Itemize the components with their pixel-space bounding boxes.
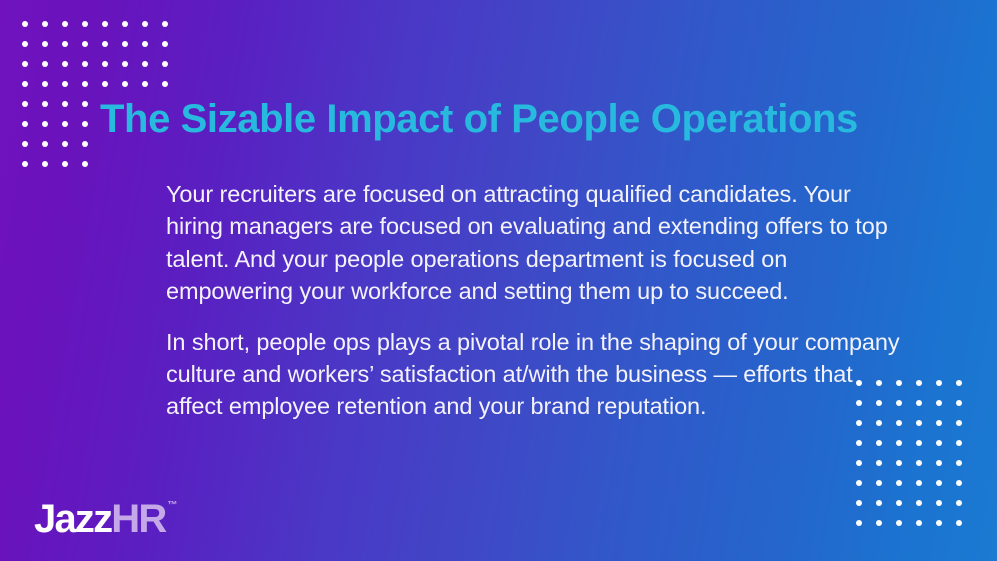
decorative-dot bbox=[876, 520, 882, 526]
jazzhr-logo: Jazz HR ™ bbox=[34, 499, 177, 539]
decorative-dot bbox=[856, 480, 862, 486]
decorative-dot bbox=[162, 21, 168, 27]
decorative-dot bbox=[896, 380, 902, 386]
decorative-dot bbox=[916, 380, 922, 386]
decorative-dot bbox=[916, 520, 922, 526]
decorative-dot bbox=[42, 161, 48, 167]
decorative-dot bbox=[162, 161, 168, 167]
decorative-dot bbox=[102, 81, 108, 87]
decorative-dot bbox=[142, 21, 148, 27]
decorative-dot bbox=[956, 380, 962, 386]
decorative-dot bbox=[162, 41, 168, 47]
decorative-dot bbox=[62, 41, 68, 47]
decorative-dot bbox=[936, 480, 942, 486]
decorative-dot bbox=[42, 81, 48, 87]
decorative-dot bbox=[122, 61, 128, 67]
page-title: The Sizable Impact of People Operations bbox=[100, 95, 858, 143]
decorative-dot bbox=[122, 161, 128, 167]
decorative-dot bbox=[22, 101, 28, 107]
decorative-dot bbox=[956, 480, 962, 486]
decorative-dot bbox=[916, 440, 922, 446]
decorative-dot bbox=[62, 21, 68, 27]
decorative-dot bbox=[936, 440, 942, 446]
decorative-dot bbox=[876, 500, 882, 506]
decorative-dot bbox=[62, 121, 68, 127]
decorative-dot bbox=[142, 61, 148, 67]
decorative-dot bbox=[82, 101, 88, 107]
decorative-dot bbox=[22, 141, 28, 147]
decorative-dot bbox=[956, 520, 962, 526]
decorative-dot bbox=[856, 380, 862, 386]
decorative-dot bbox=[876, 400, 882, 406]
decorative-dot bbox=[42, 61, 48, 67]
decorative-dot bbox=[936, 400, 942, 406]
decorative-dot bbox=[22, 81, 28, 87]
decorative-dot bbox=[62, 101, 68, 107]
decorative-dot bbox=[22, 61, 28, 67]
dot-grid-bottom-right bbox=[856, 380, 976, 540]
decorative-dot bbox=[916, 480, 922, 486]
decorative-dot bbox=[62, 81, 68, 87]
decorative-dot bbox=[936, 460, 942, 466]
decorative-dot bbox=[142, 81, 148, 87]
decorative-dot bbox=[876, 440, 882, 446]
decorative-dot bbox=[82, 81, 88, 87]
decorative-dot bbox=[956, 400, 962, 406]
decorative-dot bbox=[896, 520, 902, 526]
decorative-dot bbox=[916, 400, 922, 406]
decorative-dot bbox=[876, 460, 882, 466]
decorative-dot bbox=[122, 41, 128, 47]
decorative-dot bbox=[62, 161, 68, 167]
decorative-dot bbox=[876, 380, 882, 386]
decorative-dot bbox=[936, 520, 942, 526]
logo-secondary-text: HR bbox=[111, 499, 165, 539]
decorative-dot bbox=[936, 500, 942, 506]
decorative-dot bbox=[22, 21, 28, 27]
decorative-dot bbox=[876, 480, 882, 486]
decorative-dot bbox=[82, 161, 88, 167]
decorative-dot bbox=[956, 460, 962, 466]
decorative-dot bbox=[956, 440, 962, 446]
decorative-dot bbox=[896, 500, 902, 506]
decorative-dot bbox=[42, 121, 48, 127]
decorative-dot bbox=[896, 420, 902, 426]
decorative-dot bbox=[22, 121, 28, 127]
decorative-dot bbox=[936, 420, 942, 426]
slide-canvas: The Sizable Impact of People Operations … bbox=[0, 0, 997, 561]
paragraph-1: Your recruiters are focused on attractin… bbox=[166, 178, 906, 308]
decorative-dot bbox=[956, 500, 962, 506]
decorative-dot bbox=[142, 161, 148, 167]
decorative-dot bbox=[42, 41, 48, 47]
decorative-dot bbox=[22, 161, 28, 167]
decorative-dot bbox=[122, 81, 128, 87]
decorative-dot bbox=[916, 460, 922, 466]
decorative-dot bbox=[956, 420, 962, 426]
decorative-dot bbox=[896, 460, 902, 466]
paragraph-2: In short, people ops plays a pivotal rol… bbox=[166, 326, 906, 423]
decorative-dot bbox=[62, 141, 68, 147]
decorative-dot bbox=[916, 420, 922, 426]
decorative-dot bbox=[102, 41, 108, 47]
decorative-dot bbox=[856, 420, 862, 426]
decorative-dot bbox=[856, 460, 862, 466]
decorative-dot bbox=[42, 141, 48, 147]
logo-primary-text: Jazz bbox=[34, 499, 111, 539]
decorative-dot bbox=[876, 420, 882, 426]
decorative-dot bbox=[162, 81, 168, 87]
body-copy: Your recruiters are focused on attractin… bbox=[166, 178, 906, 423]
decorative-dot bbox=[82, 61, 88, 67]
decorative-dot bbox=[896, 440, 902, 446]
decorative-dot bbox=[936, 380, 942, 386]
decorative-dot bbox=[916, 500, 922, 506]
decorative-dot bbox=[162, 61, 168, 67]
trademark-icon: ™ bbox=[167, 501, 177, 511]
decorative-dot bbox=[42, 101, 48, 107]
decorative-dot bbox=[82, 121, 88, 127]
decorative-dot bbox=[856, 500, 862, 506]
decorative-dot bbox=[62, 61, 68, 67]
decorative-dot bbox=[856, 400, 862, 406]
decorative-dot bbox=[82, 141, 88, 147]
decorative-dot bbox=[42, 21, 48, 27]
decorative-dot bbox=[856, 440, 862, 446]
decorative-dot bbox=[82, 41, 88, 47]
decorative-dot bbox=[122, 21, 128, 27]
decorative-dot bbox=[82, 21, 88, 27]
decorative-dot bbox=[102, 21, 108, 27]
decorative-dot bbox=[896, 400, 902, 406]
decorative-dot bbox=[856, 520, 862, 526]
decorative-dot bbox=[102, 61, 108, 67]
decorative-dot bbox=[142, 41, 148, 47]
decorative-dot bbox=[896, 480, 902, 486]
decorative-dot bbox=[22, 41, 28, 47]
decorative-dot bbox=[102, 161, 108, 167]
